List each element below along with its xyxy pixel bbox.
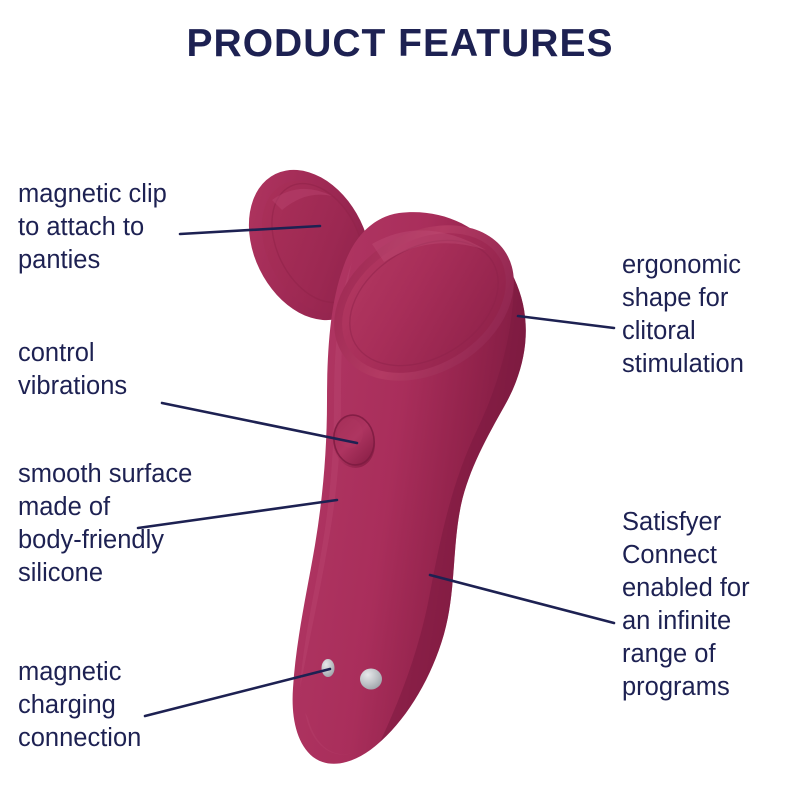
callout-magnetic-charging: magnetic charging connection bbox=[18, 656, 141, 755]
callout-smooth-surface: smooth surface made of body-friendly sil… bbox=[18, 458, 192, 590]
leader-ergonomic bbox=[518, 316, 614, 328]
charging-contact-small bbox=[322, 659, 335, 677]
callout-control-vibrations: control vibrations bbox=[18, 337, 127, 403]
leader-connect bbox=[430, 575, 614, 623]
callout-satisfyer-connect: Satisfyer Connect enabled for an infinit… bbox=[622, 506, 750, 704]
charging-contact-large bbox=[360, 669, 382, 690]
callout-magnetic-clip: magnetic clip to attach to panties bbox=[18, 178, 167, 277]
product-features-infographic: PRODUCT FEATURES bbox=[0, 0, 800, 800]
callout-ergonomic-shape: ergonomic shape for clitoral stimulation bbox=[622, 249, 744, 381]
